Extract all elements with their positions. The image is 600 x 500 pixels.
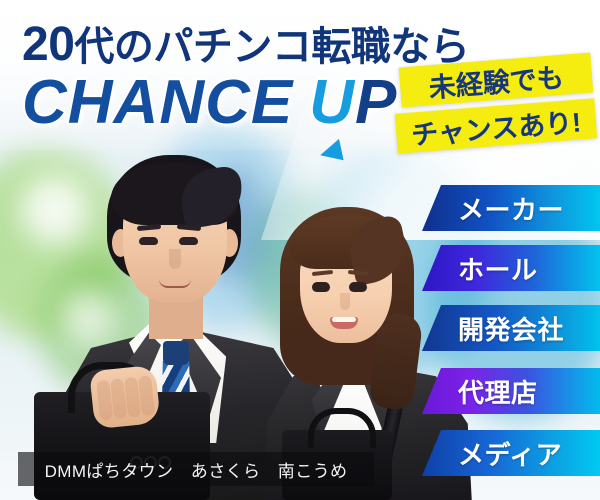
headline-rest: 代のパチンコ転職なら xyxy=(74,25,469,69)
tag-development-company-label: 開発会社 xyxy=(422,310,564,347)
tag-media-label: メディア xyxy=(422,435,562,472)
man-eye-left xyxy=(139,237,158,245)
tag-hall-label: ホール xyxy=(422,250,538,287)
woman-nose xyxy=(340,293,350,310)
caption-bar: DMMぱちタウン あさくら 南こうめ xyxy=(18,452,374,486)
man-nose xyxy=(169,249,181,269)
tag-agency[interactable]: 代理店 xyxy=(422,368,600,414)
tag-maker[interactable]: メーカー xyxy=(422,185,600,231)
tag-media[interactable]: メディア xyxy=(422,430,600,476)
tag-hall[interactable]: ホール xyxy=(422,245,600,291)
logo-letter-p: P xyxy=(355,68,397,137)
briefcase-secondary-handle xyxy=(308,408,376,448)
caption-text: DMMぱちタウン あさくら 南こうめ xyxy=(45,457,348,482)
hand-finger-4 xyxy=(138,375,155,416)
man-eye-right xyxy=(179,237,198,245)
headline-number: 20 xyxy=(22,18,74,71)
logo-word-chance: CHANCE xyxy=(22,68,293,137)
advertisement-banner[interactable]: 20代のパチンコ転職なら CHANCEUP 未経験でも チャンスあり! メーカー… xyxy=(0,0,600,500)
woman-eye-right xyxy=(349,282,367,292)
tag-development-company[interactable]: 開発会社 xyxy=(422,305,600,351)
woman-teeth xyxy=(332,317,356,322)
tag-maker-label: メーカー xyxy=(422,190,564,227)
logo-letter-u: U xyxy=(309,68,355,137)
headline-text: 20代のパチンコ転職なら xyxy=(22,14,469,72)
man-necktie-knot xyxy=(163,341,189,365)
tag-agency-label: 代理店 xyxy=(422,373,538,410)
woman-eye-left xyxy=(312,282,330,292)
logo-chance-up: CHANCEUP xyxy=(22,72,397,134)
man-mouth xyxy=(159,279,191,288)
photo-hand-holding-briefcase xyxy=(89,365,161,430)
